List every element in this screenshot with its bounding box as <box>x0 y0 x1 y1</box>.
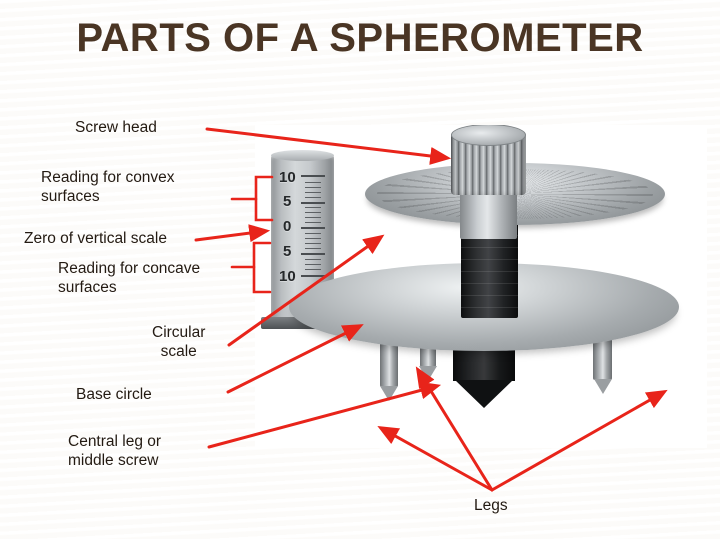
vscale-tick-minor <box>305 197 321 198</box>
vscale-tick-minor <box>305 243 321 244</box>
central-screw-tip <box>455 380 513 408</box>
vscale-tick-minor <box>305 269 321 270</box>
page-title: PARTS OF A SPHEROMETER <box>0 16 720 61</box>
vscale-tick-minor <box>305 222 321 223</box>
vscale-tick-minor <box>305 248 321 249</box>
screw-head-top <box>451 125 526 146</box>
label-concave-reading: Reading for concave surfaces <box>58 259 200 297</box>
vscale-tick-minor <box>305 192 321 193</box>
vscale-tick-major <box>301 202 325 204</box>
spherometer-photo: 10 5 0 5 10 <box>255 125 707 448</box>
vscale-number-10-top: 10 <box>279 169 296 186</box>
vscale-tick-minor <box>305 207 321 208</box>
central-screw-body <box>453 347 515 381</box>
label-screw-head: Screw head <box>75 118 157 137</box>
vscale-tick-minor <box>305 238 321 239</box>
vscale-tick-major <box>301 253 325 255</box>
vscale-tick-major <box>301 227 325 229</box>
leg-left-tip <box>380 386 398 401</box>
vscale-tick-minor <box>305 259 321 260</box>
label-central-leg: Central leg or middle screw <box>68 432 161 470</box>
vscale-tick-minor <box>305 212 321 213</box>
label-circular-scale: Circular scale <box>152 323 205 361</box>
vscale-number-10-bottom: 10 <box>279 268 296 285</box>
vscale-tick-major <box>301 275 325 277</box>
label-legs: Legs <box>474 496 508 515</box>
leg-right-tip <box>594 379 612 394</box>
vscale-number-5-top: 5 <box>283 193 291 210</box>
vscale-number-0: 0 <box>283 218 291 235</box>
vscale-tick-major <box>301 175 325 177</box>
label-convex-reading: Reading for convex surfaces <box>41 168 175 206</box>
vscale-tick-minor <box>305 233 321 234</box>
label-base-circle: Base circle <box>76 385 152 404</box>
vscale-tick-minor <box>305 264 321 265</box>
vscale-number-5-bottom: 5 <box>283 243 291 260</box>
vscale-tick-minor <box>305 217 321 218</box>
vscale-tick-minor <box>305 182 321 183</box>
vscale-tick-minor <box>305 187 321 188</box>
leg-back-tip <box>419 366 437 381</box>
label-zero-vertical: Zero of vertical scale <box>24 229 167 248</box>
